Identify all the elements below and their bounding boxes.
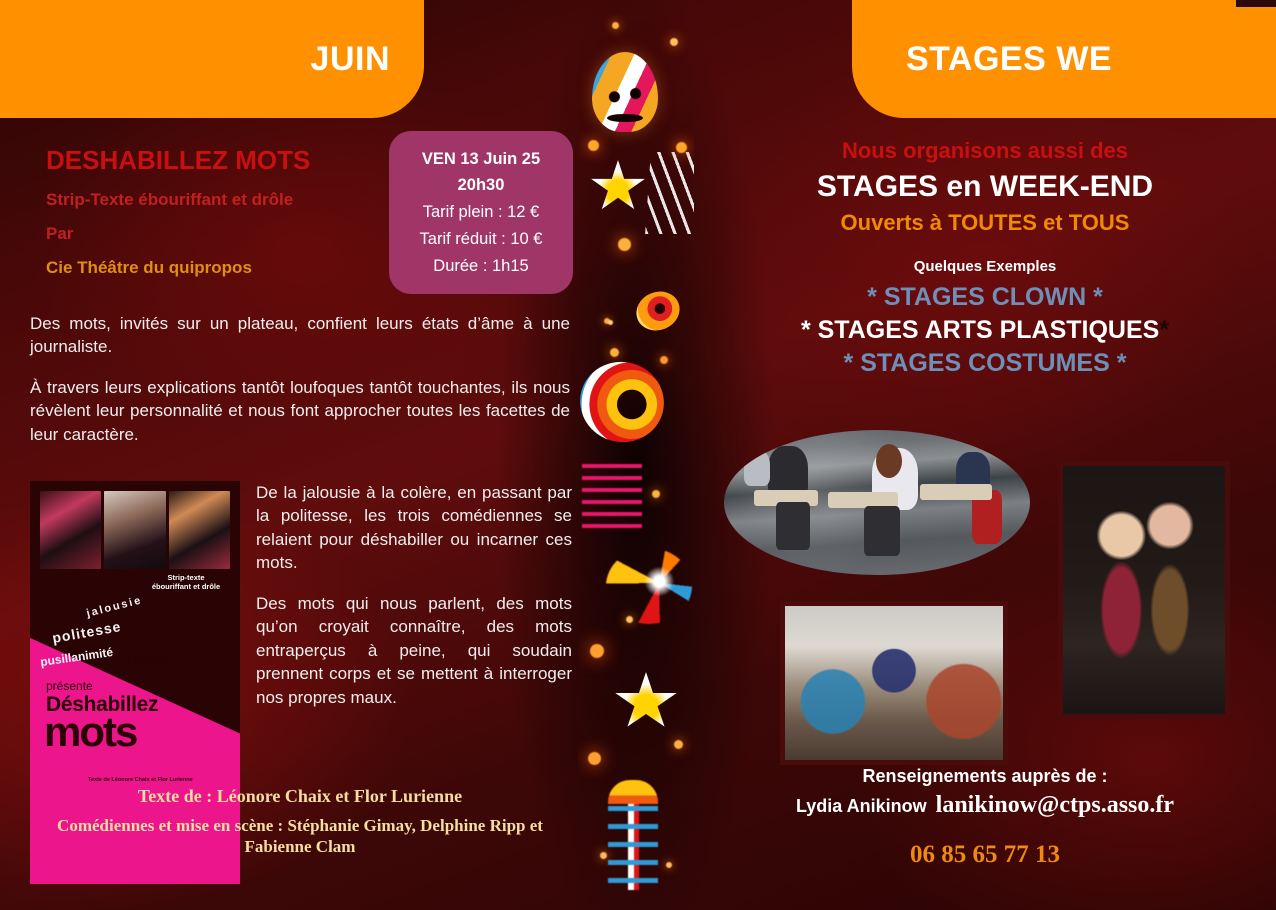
example-2-main: * STAGES ARTS PLASTIQUES xyxy=(801,316,1159,344)
poster-caption-line2: ébouriffant et drôle xyxy=(136,582,236,591)
contact-email[interactable]: lanikinow@ctps.asso.fr xyxy=(936,792,1174,818)
poster-photo-row xyxy=(40,491,230,569)
light-streaks-icon xyxy=(645,152,694,234)
poster-caption: Strip-texte ébouriffant et drôle xyxy=(136,573,236,592)
star-icon xyxy=(590,160,646,214)
costume-performance-photo xyxy=(1058,461,1230,719)
poster-photo-1 xyxy=(40,491,101,569)
description-p4: Des mots qui nous parlent, des mots qu’o… xyxy=(256,592,572,709)
description-p1: Des mots, invités sur un plateau, confie… xyxy=(30,312,570,359)
credits-block: Texte de : Léonore Chaix et Flor Lurienn… xyxy=(30,786,570,857)
header-stages: STAGES WE xyxy=(852,0,1276,118)
workshop-photo-outdoor xyxy=(724,430,1030,575)
description-p2: À travers leurs explications tantôt louf… xyxy=(30,376,570,446)
description-p3: De la jalousie à la colère, en passant p… xyxy=(256,481,572,575)
date-value: VEN 13 Juin 25 xyxy=(422,146,540,173)
example-stages-costumes: * STAGES COSTUMES * xyxy=(694,349,1276,378)
poster-credit: Texte de Léonore Chaix et Flor Lurienne xyxy=(88,777,193,783)
carnival-mask-icon xyxy=(592,52,658,132)
header-month: JUIN xyxy=(0,0,424,118)
credits-text-line: Texte de : Léonore Chaix et Flor Lurienn… xyxy=(30,786,570,807)
description-bottom: De la jalousie à la colère, en passant p… xyxy=(256,481,572,726)
stages-intro: Nous organisons aussi des xyxy=(694,138,1276,164)
poster-photo-3 xyxy=(169,491,230,569)
stages-examples: Quelques Exemples * STAGES CLOWN * * STA… xyxy=(694,258,1276,378)
star-icon xyxy=(614,672,678,732)
header-month-label: JUIN xyxy=(311,40,390,79)
contact-line1: Renseignements auprès de : xyxy=(694,766,1276,787)
show-subtitle: Strip-Texte ébouriffant et drôle xyxy=(46,190,386,210)
credits-cast-line: Comédiennes et mise en scène : Stéphanie… xyxy=(30,816,570,857)
contact-block: Renseignements auprès de : Lydia Anikino… xyxy=(694,766,1276,869)
example-2-star: * xyxy=(1159,316,1169,344)
left-column: DESHABILLEZ MOTS Strip-Texte ébouriffant… xyxy=(0,118,578,910)
show-title-block: DESHABILLEZ MOTS Strip-Texte ébouriffant… xyxy=(46,146,386,278)
poster-word-4: colère xyxy=(115,647,169,670)
time-value: 20h30 xyxy=(458,172,505,199)
pink-bars-icon xyxy=(582,462,642,528)
spiral-firework-icon xyxy=(630,285,685,337)
show-company: Cie Théâtre du quipropos xyxy=(46,258,386,278)
starburst-firework-icon xyxy=(606,548,692,624)
poster-presente: présente xyxy=(46,679,93,693)
stages-open-to: Ouverts à TOUTES et TOUS xyxy=(694,210,1276,236)
header-stages-label: STAGES WE xyxy=(906,40,1112,79)
examples-label: Quelques Exemples xyxy=(694,258,1276,275)
show-by-label: Par xyxy=(46,224,386,244)
poster-caption-line1: Strip-texte xyxy=(136,573,236,582)
example-stages-arts-plastiques: * STAGES ARTS PLASTIQUES* xyxy=(694,316,1276,345)
workshop-photo-sewing xyxy=(780,601,1008,765)
contact-phone[interactable]: 06 85 65 77 13 xyxy=(694,841,1276,869)
spiral-wave-icon xyxy=(578,353,672,451)
poster-word-1: jalousie xyxy=(85,594,143,620)
decorative-column xyxy=(578,0,694,910)
show-title: DESHABILLEZ MOTS xyxy=(46,146,386,176)
description-top: Des mots, invités sur un plateau, confie… xyxy=(30,312,570,463)
poster-title-line2: mots xyxy=(44,713,136,751)
top-right-strip xyxy=(1236,0,1276,7)
rocket-firework-icon xyxy=(608,780,658,890)
stages-heading: Nous organisons aussi des STAGES en WEEK… xyxy=(694,118,1276,236)
duration: Durée : 1h15 xyxy=(433,253,528,280)
price-reduced: Tarif réduit : 10 € xyxy=(420,226,543,253)
right-column: Nous organisons aussi des STAGES en WEEK… xyxy=(694,118,1276,910)
example-stages-clown: * STAGES CLOWN * xyxy=(694,283,1276,312)
poster-page: JUIN STAGES WE DESHABILLEZ MOTS Strip-Te… xyxy=(0,0,1276,910)
poster-word-3: pusillanimité xyxy=(39,646,113,669)
stages-headline: STAGES en WEEK-END xyxy=(694,170,1276,204)
poster-word-2: politesse xyxy=(51,619,122,646)
date-price-box: VEN 13 Juin 25 20h30 Tarif plein : 12 € … xyxy=(389,131,573,294)
contact-name: Lydia Anikinow xyxy=(796,796,927,816)
price-full: Tarif plein : 12 € xyxy=(423,199,539,226)
poster-photo-2 xyxy=(104,491,165,569)
contact-name-email: Lydia Anikinowlanikinow@ctps.asso.fr xyxy=(694,792,1276,819)
